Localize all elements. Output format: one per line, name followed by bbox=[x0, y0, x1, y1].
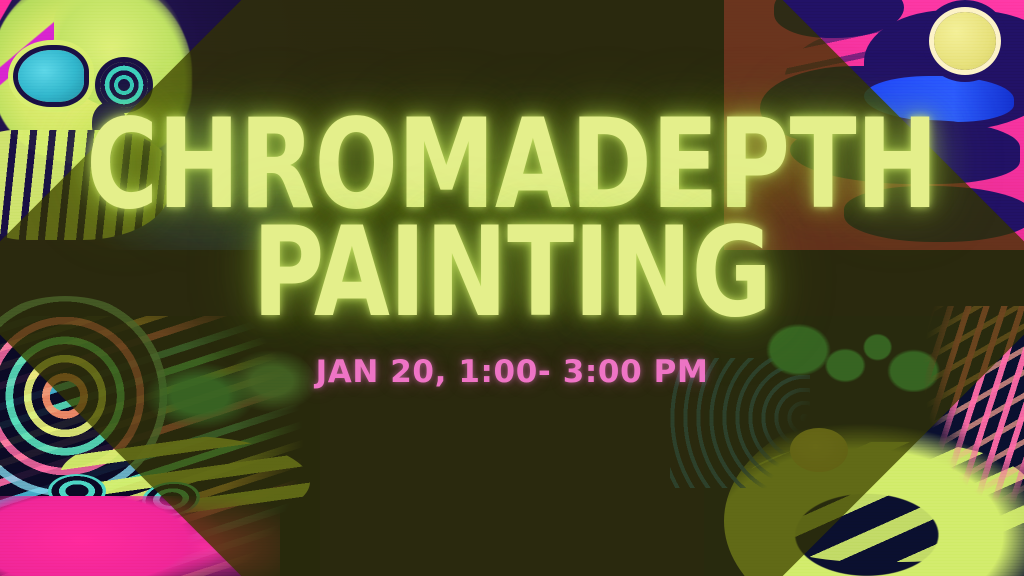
poster-canvas: CHROMADEPTH PAINTING JAN 20, 1:00- 3:00 … bbox=[0, 0, 1024, 576]
poster-subtitle-datetime: JAN 20, 1:00- 3:00 PM bbox=[316, 354, 709, 390]
poster-content: CHROMADEPTH PAINTING JAN 20, 1:00- 3:00 … bbox=[0, 0, 1024, 576]
poster-title: CHROMADEPTH PAINTING bbox=[86, 112, 938, 328]
